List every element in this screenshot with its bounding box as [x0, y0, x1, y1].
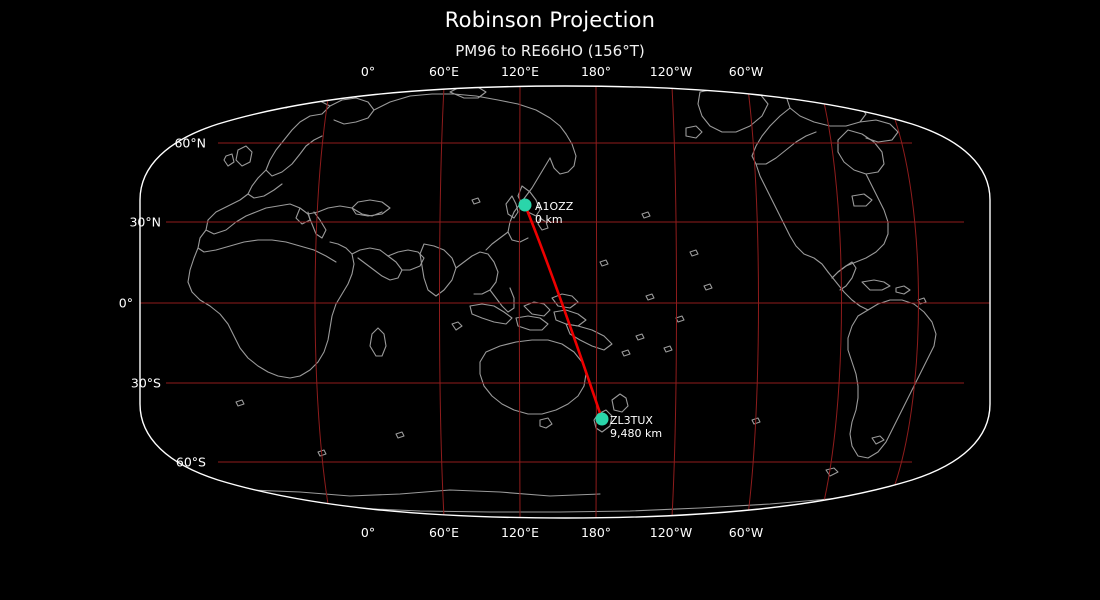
- map-face: [140, 86, 990, 518]
- station-distance-destination: 9,480 km: [610, 427, 662, 440]
- lat-tick-60n: 60°N: [172, 136, 206, 151]
- station-marker-destination[interactable]: [596, 413, 609, 426]
- lon-tick-top-5: 60°W: [729, 64, 764, 79]
- station-label-origin: A1OZZ 0 km: [535, 200, 573, 226]
- lon-tick-bottom-0: 0°: [361, 525, 375, 540]
- lon-tick-bottom-1: 60°E: [429, 525, 459, 540]
- robinson-map-canvas: [0, 0, 1100, 600]
- lat-tick-60s: 60°S: [172, 455, 206, 470]
- lon-tick-bottom-5: 60°W: [729, 525, 764, 540]
- lat-tick-30s: 30°S: [127, 376, 161, 391]
- lon-tick-bottom-3: 180°: [581, 525, 611, 540]
- station-distance-origin: 0 km: [535, 213, 573, 226]
- lon-tick-bottom-2: 120°E: [501, 525, 539, 540]
- station-label-destination: ZL3TUX 9,480 km: [610, 414, 662, 440]
- lon-tick-top-4: 120°W: [650, 64, 692, 79]
- lon-tick-top-0: 0°: [361, 64, 375, 79]
- lon-tick-top-1: 60°E: [429, 64, 459, 79]
- lon-tick-top-3: 180°: [581, 64, 611, 79]
- station-marker-origin[interactable]: [519, 199, 532, 212]
- station-callsign-destination: ZL3TUX: [610, 414, 662, 427]
- map-figure: Robinson Projection PM96 to RE66HO (156°…: [0, 0, 1100, 600]
- lat-tick-30n: 30°N: [127, 215, 161, 230]
- lon-tick-bottom-4: 120°W: [650, 525, 692, 540]
- lat-tick-0: 0°: [113, 296, 133, 311]
- station-callsign-origin: A1OZZ: [535, 200, 573, 213]
- lon-tick-top-2: 120°E: [501, 64, 539, 79]
